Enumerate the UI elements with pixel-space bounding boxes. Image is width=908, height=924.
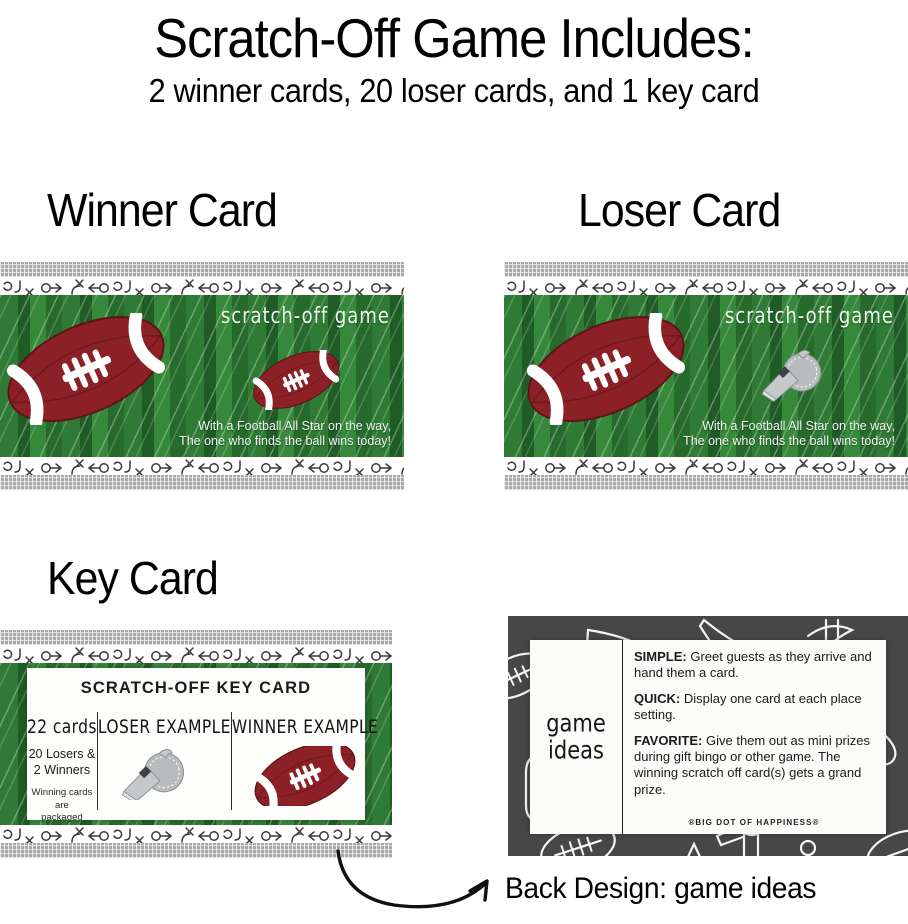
card-top-gray-band: [504, 262, 908, 277]
product-infographic: Scratch-Off Game Includes: 2 winner card…: [0, 0, 908, 924]
brand-mark: ®BIG DOT OF HAPPINESS®: [622, 818, 886, 827]
key-card-title: SCRATCH-OFF KEY CARD: [27, 679, 365, 698]
game-ideas-line-2: ideas: [548, 734, 604, 766]
verse-line-1: With a Football All Star on the way,: [683, 419, 895, 434]
back-design-card[interactable]: game ideas SIMPLE: Greet guests as they …: [508, 616, 908, 856]
key-column-winner-example: WINNER EXAMPLE: [232, 712, 378, 810]
key-card-heading: Key Card: [47, 552, 218, 604]
card-top-plays-band: [0, 645, 392, 663]
winner-card[interactable]: scratch-off game With a Football All Sta…: [0, 262, 404, 490]
card-top-gray-band: [0, 262, 404, 277]
card-top-plays-band: [0, 277, 404, 295]
loser-example-heading: LOSER EXAMPLE: [98, 716, 231, 738]
idea-favorite: FAVORITE: Give them out as mini prizes d…: [634, 733, 876, 799]
verse-line-2: The one who finds the ball wins today!: [179, 434, 391, 449]
page-title: Scratch-Off Game Includes:: [36, 8, 871, 68]
winner-card-verse: With a Football All Star on the way, The…: [179, 419, 391, 449]
card-bottom-gray-band: [504, 475, 908, 490]
whistle-icon: [756, 343, 848, 403]
football-icon-large: [522, 313, 690, 425]
card-top-plays-band: [504, 277, 908, 295]
loser-card-verse: With a Football All Star on the way, The…: [683, 419, 895, 449]
game-ideas-panel: game ideas SIMPLE: Greet guests as they …: [530, 640, 886, 834]
key-card-panel: SCRATCH-OFF KEY CARD 22 cards 20 Losers …: [27, 668, 365, 820]
verse-line-1: With a Football All Star on the way,: [179, 419, 391, 434]
key-column-counts: 22 cards 20 Losers & 2 Winners Winning c…: [27, 712, 98, 810]
scratch-off-game-label: scratch-off game: [725, 303, 894, 329]
card-bottom-gray-band: [0, 475, 404, 490]
loser-card[interactable]: scratch-off game With a Football All Sta…: [504, 262, 908, 490]
card-bottom-plays-band: [504, 457, 908, 475]
card-bottom-plays-band: [0, 457, 404, 475]
losers-line: 20 Losers &: [29, 746, 96, 762]
idea-quick: QUICK: Display one card at each place se…: [634, 691, 876, 724]
key-card[interactable]: SCRATCH-OFF KEY CARD 22 cards 20 Losers …: [0, 630, 392, 858]
game-ideas-label: game ideas: [530, 640, 623, 834]
winner-card-field: scratch-off game With a Football All Sta…: [0, 295, 404, 457]
game-ideas-list: SIMPLE: Greet guests as they arrive and …: [623, 640, 886, 834]
idea-term: SIMPLE:: [634, 649, 687, 664]
whistle-icon: [116, 746, 212, 800]
key-card-columns: 22 cards 20 Losers & 2 Winners Winning c…: [27, 712, 365, 810]
card-count-breakdown: 20 Losers & 2 Winners: [29, 746, 96, 778]
idea-term: FAVORITE:: [634, 733, 702, 748]
card-top-gray-band: [0, 630, 392, 645]
loser-card-heading: Loser Card: [578, 184, 780, 236]
key-column-loser-example: LOSER EXAMPLE: [98, 712, 232, 810]
football-icon-small: [250, 350, 342, 410]
page-subtitle: 2 winner cards, 20 loser cards, and 1 ke…: [32, 72, 876, 110]
back-design-arrow: [330, 845, 500, 922]
winner-card-heading: Winner Card: [47, 184, 277, 236]
idea-term: QUICK:: [634, 691, 680, 706]
winner-example-heading: WINNER EXAMPLE: [232, 716, 378, 738]
scratch-off-game-label: scratch-off game: [221, 303, 390, 329]
winners-line: 2 Winners: [29, 762, 96, 778]
idea-simple: SIMPLE: Greet guests as they arrive and …: [634, 649, 876, 682]
loser-card-field: scratch-off game With a Football All Sta…: [504, 295, 908, 457]
back-design-caption: Back Design: game ideas: [505, 872, 816, 906]
card-count-heading: 22 cards: [27, 716, 97, 738]
verse-line-2: The one who finds the ball wins today!: [683, 434, 895, 449]
football-icon: [251, 746, 359, 806]
football-icon-large: [2, 313, 170, 425]
card-bottom-plays-band: [0, 825, 392, 843]
